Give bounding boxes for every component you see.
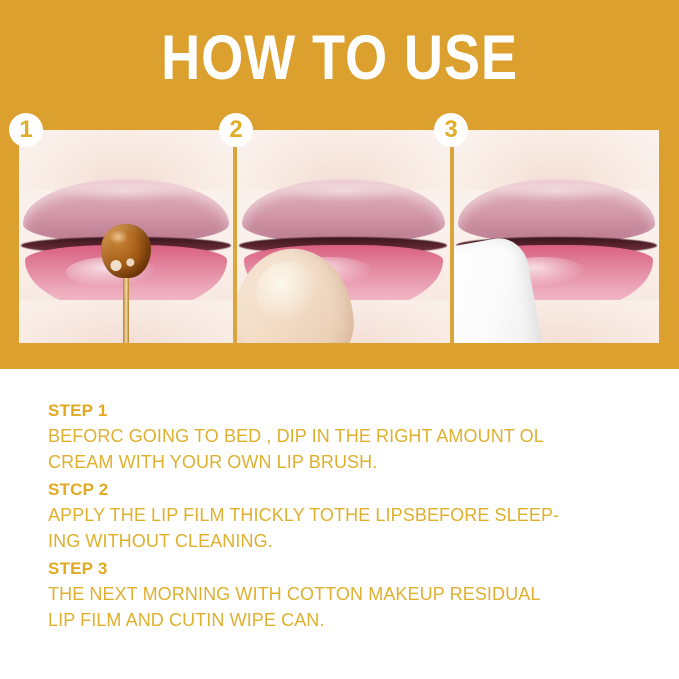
step-2-title: STCP 2: [48, 477, 648, 502]
step-3-title: STEP 3: [48, 556, 648, 581]
step-badge-3: 3: [434, 113, 468, 147]
photo-panel-step-3: [454, 130, 659, 343]
instruction-step-2: STCP 2 APPLY THE LIP FILM THICKLY TOTHE …: [48, 477, 648, 554]
step-badge-2: 2: [219, 113, 253, 147]
step-badge-1: 1: [9, 113, 43, 147]
step-3-body: THE NEXT MORNING WITH COTTON MAKEUP RESI…: [48, 581, 648, 633]
step-1-body: BEFORC GOING TO BED , DIP IN THE RIGHT A…: [48, 423, 648, 475]
step-1-title: STEP 1: [48, 398, 648, 423]
page-title: HOW TO USE: [48, 24, 632, 92]
photo-panel-step-2: [237, 130, 449, 343]
photo-panel-step-1: [19, 130, 233, 343]
instructions-list: STEP 1 BEFORC GOING TO BED , DIP IN THE …: [48, 398, 648, 635]
step-2-body: APPLY THE LIP FILM THICKLY TOTHE LIPSBEF…: [48, 502, 648, 554]
instruction-step-3: STEP 3 THE NEXT MORNING WITH COTTON MAKE…: [48, 556, 648, 633]
applicator-head-icon: [101, 224, 151, 278]
photo-strip: [19, 130, 659, 343]
instruction-step-1: STEP 1 BEFORC GOING TO BED , DIP IN THE …: [48, 398, 648, 475]
